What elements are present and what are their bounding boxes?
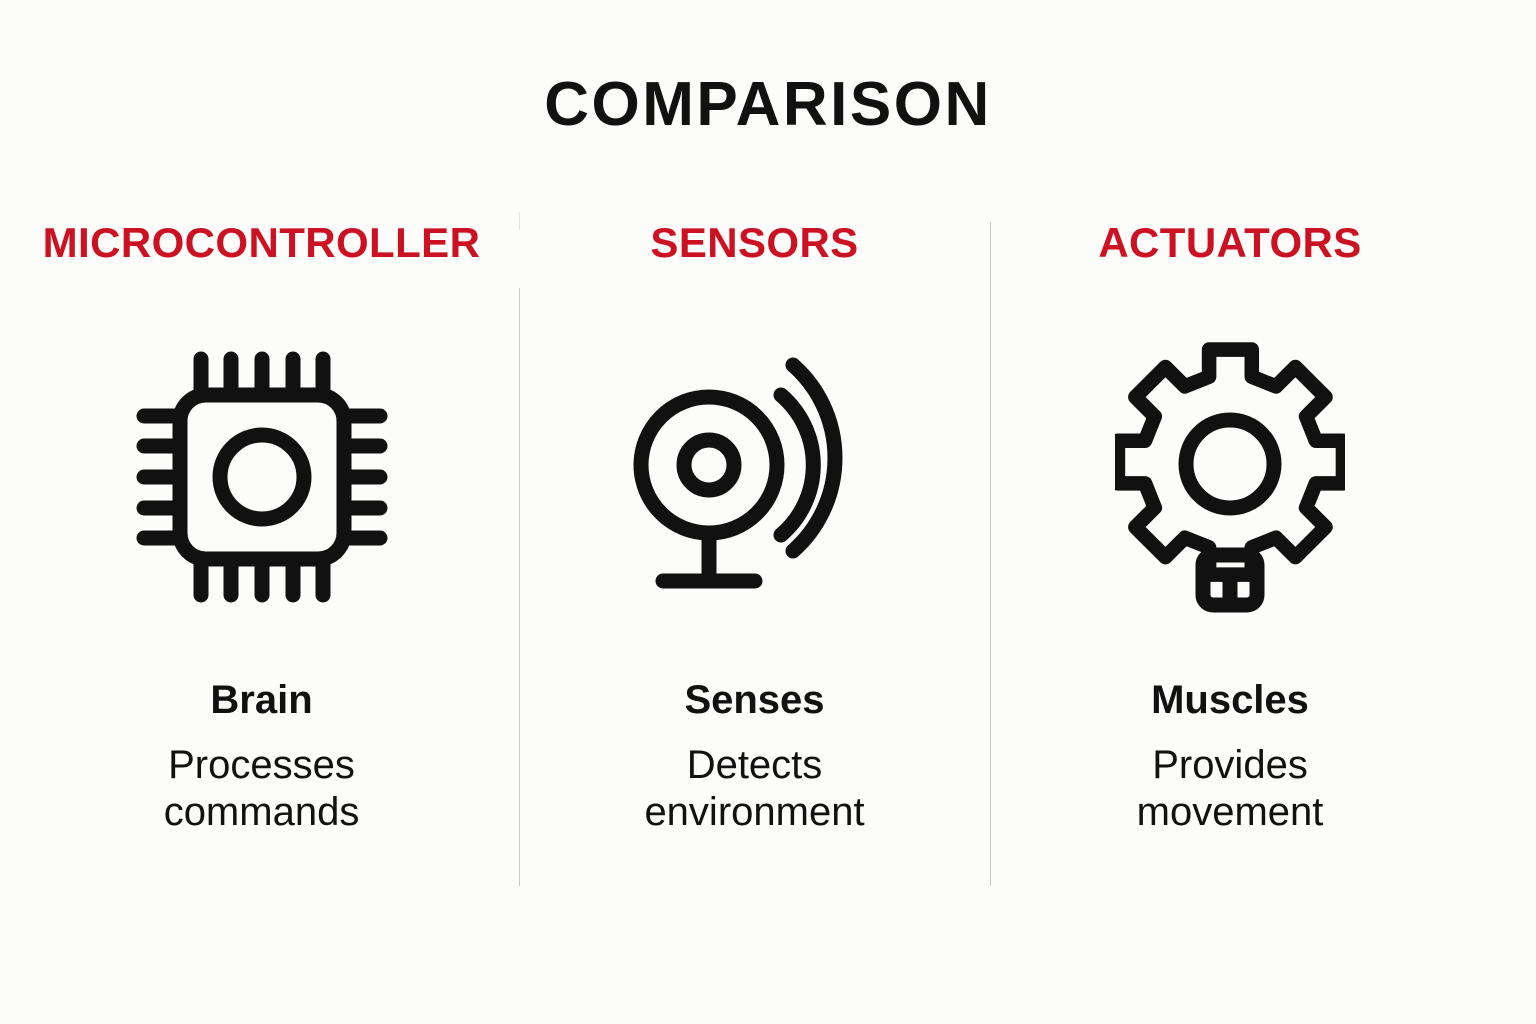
column-title-muscles: Muscles [1151,680,1309,720]
column-header-sensors: SENSORS [650,222,858,264]
comparison-infographic: COMPARISON MICROCONTROLLER [0,0,1536,1024]
comparison-column-sensors: SENSORS Senses Detects [519,222,990,836]
microchip-icon [128,336,396,618]
page-title: COMPARISON [0,72,1536,137]
column-description-senses: Detects environment [595,742,915,836]
column-description-brain: Processes commands [102,742,422,836]
comparison-column-actuators: ACTUATORS Muscles Provides movement [990,222,1536,836]
column-header-actuators: ACTUATORS [1098,222,1361,264]
comparison-columns: MICROCONTROLLER [0,222,1536,902]
gear-actuator-icon [1115,336,1345,618]
column-description-muscles: Provides movement [1080,742,1380,836]
sensor-signal-icon [621,336,889,618]
column-header-microcontroller: MICROCONTROLLER [43,222,481,264]
column-title-senses: Senses [684,680,824,720]
comparison-column-microcontroller: MICROCONTROLLER [0,222,519,836]
column-title-brain: Brain [210,680,312,720]
